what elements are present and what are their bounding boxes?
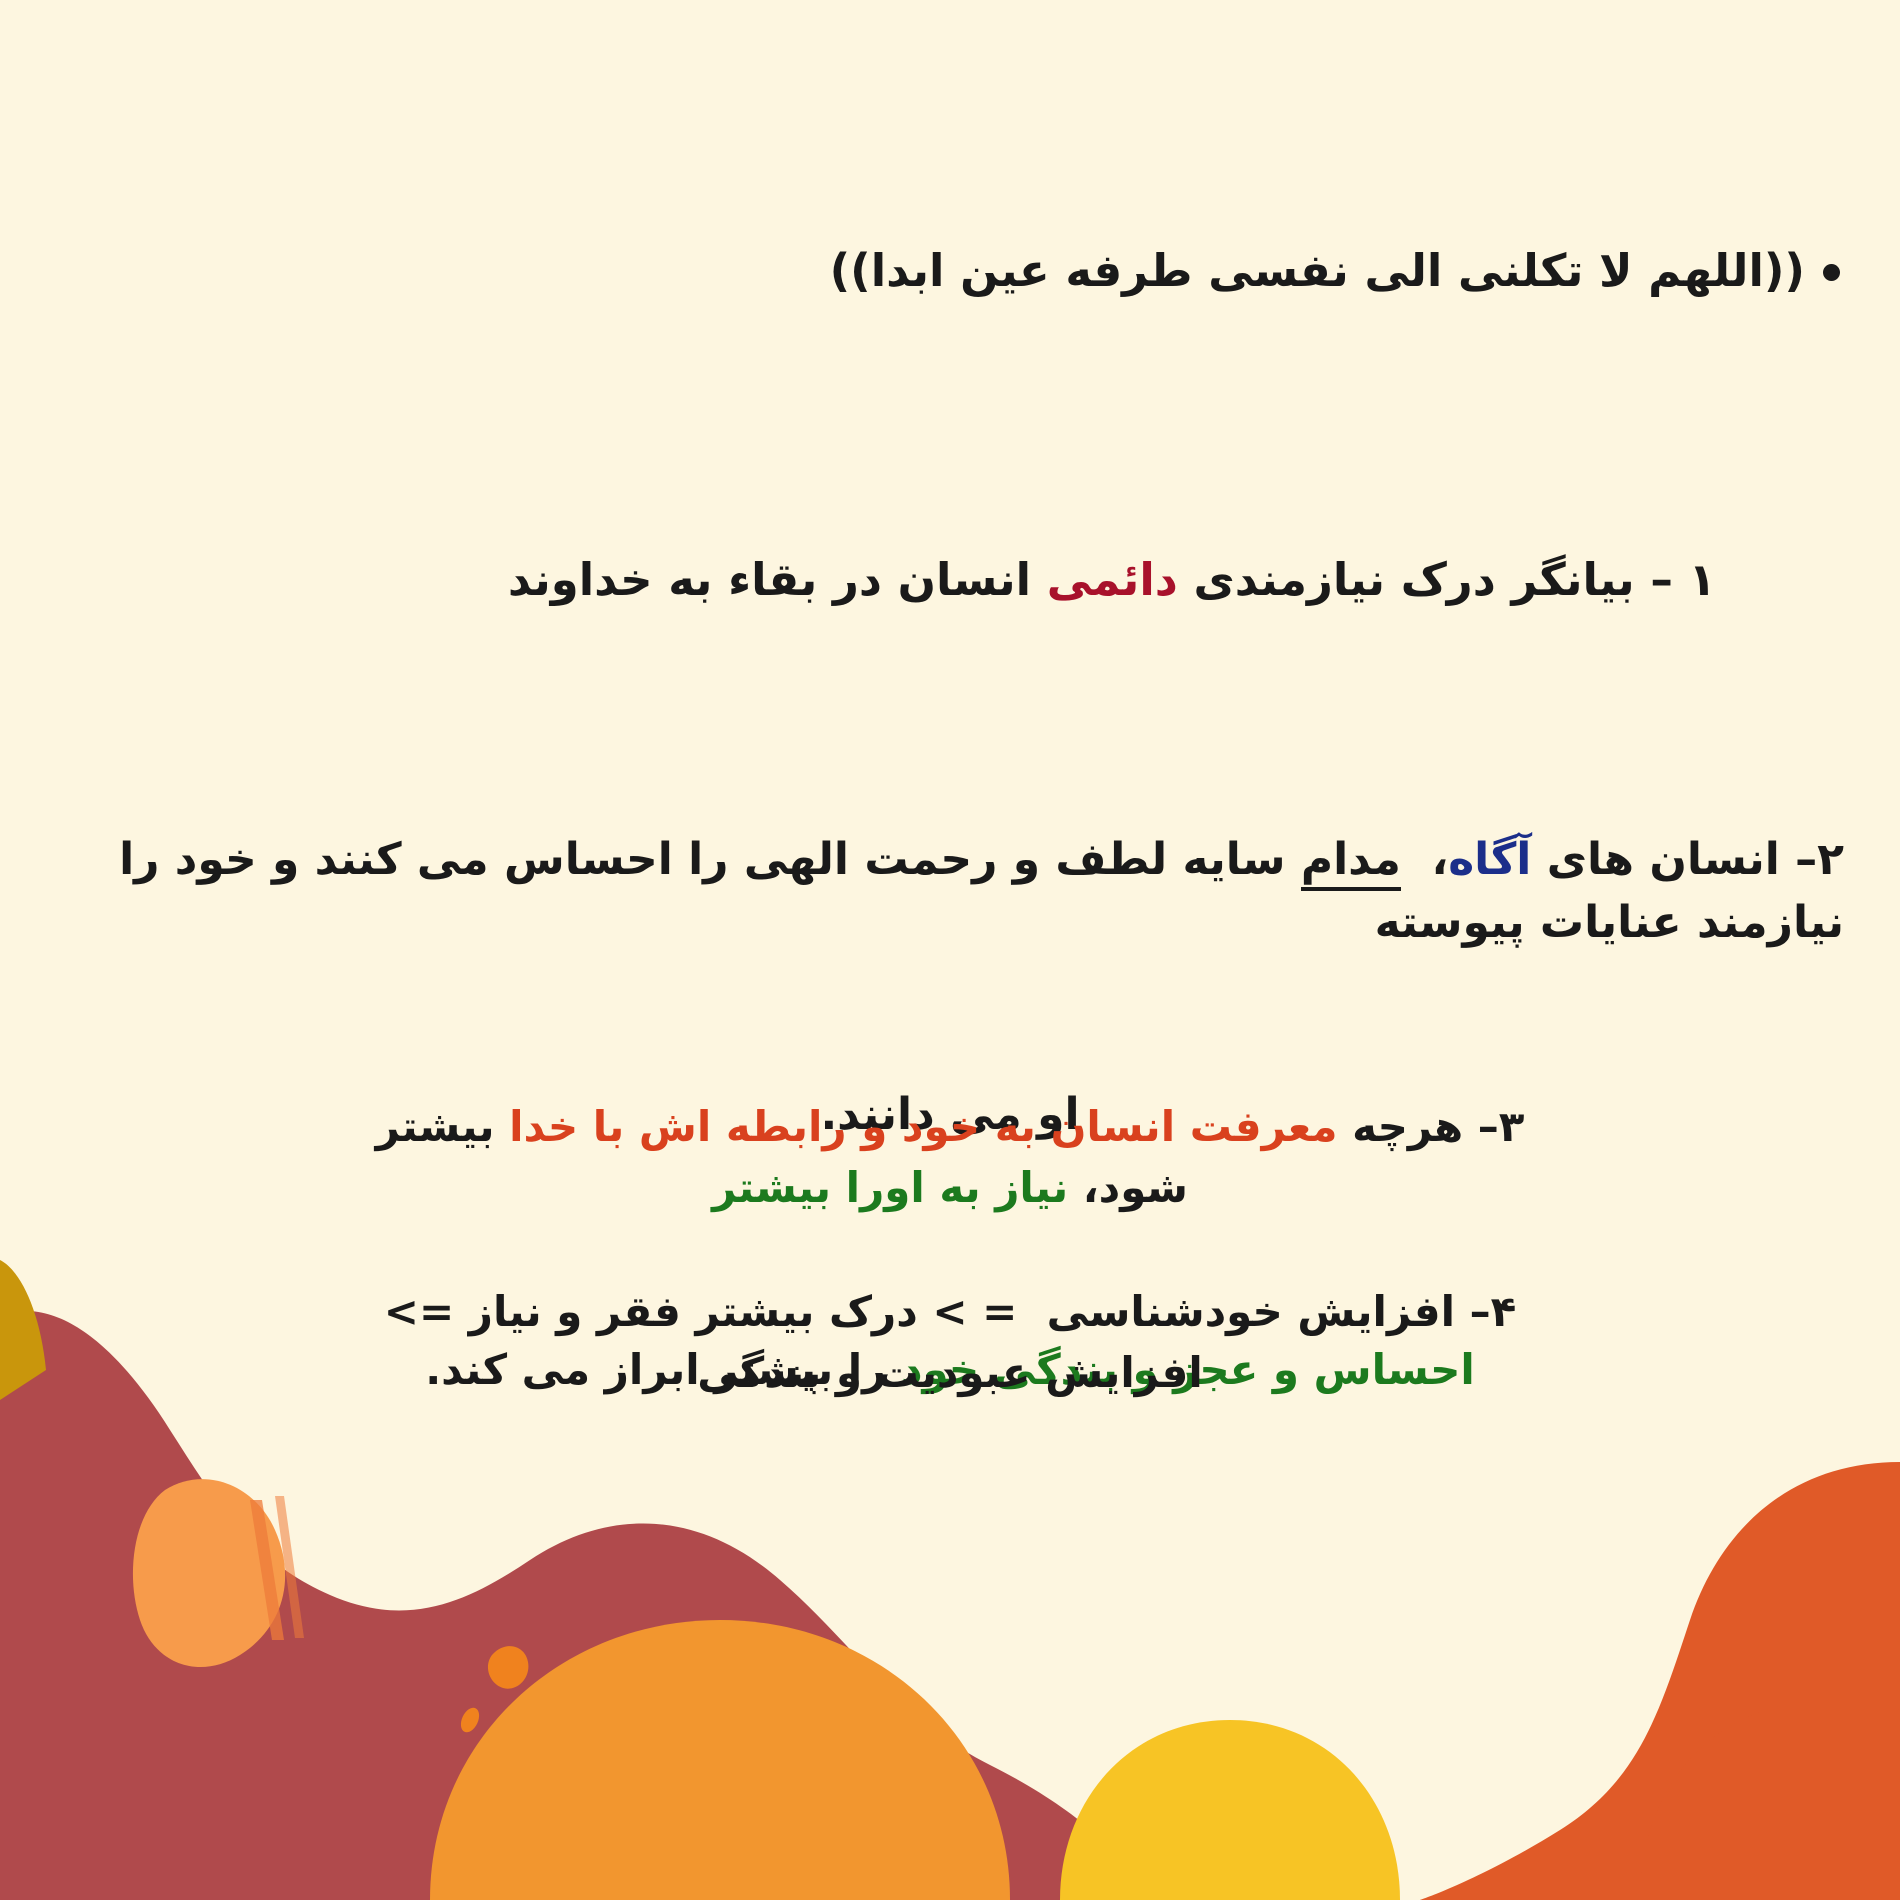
item-1-part-1: ۱ – بیانگر درک نیازمندی (1178, 553, 1716, 606)
item-2-part-1: ۲– انسان های (1531, 834, 1844, 885)
hadith-text: ((اللهم لا تكلنی الی نفسی طرفه عين ابدا)… (830, 238, 1805, 303)
slide-canvas: ((اللهم لا تكلنی الی نفسی طرفه عين ابدا)… (0, 0, 1900, 1900)
item-3: ۳– هرچه معرفت انسان به خود و رابطه اش با… (330, 975, 1570, 1523)
item-3-highlight-niaz: نیاز به اورا بیشتر (712, 1163, 1068, 1212)
item-1-part-3: انسان در بقاء به خداوند (508, 553, 1047, 606)
slide-content: ((اللهم لا تكلنی الی نفسی طرفه عين ابدا)… (0, 0, 1900, 1900)
item-2-line-1: ۲– انسان های آگاه، مدام سایه لطف و رحمت … (56, 828, 1844, 956)
item-3-line-1: ۳– هرچه معرفت انسان به خود و رابطه اش با… (330, 1097, 1570, 1219)
item-1: ۱ – بیانگر درک نیازمندی دائمی انسان در ب… (90, 482, 1810, 678)
item-3-part-1: ۳– هرچه (1338, 1102, 1525, 1151)
bullet-dot-icon (1823, 264, 1840, 281)
item-2-underline-modam: مدام (1301, 834, 1401, 891)
item-1-highlight-daemi: دائمی (1047, 553, 1178, 606)
item-3-highlight-marefat: معرفت انسان به خود و رابطه اش با خدا (509, 1102, 1337, 1151)
hadith-line: ((اللهم لا تكلنی الی نفسی طرفه عين ابدا)… (60, 238, 1840, 303)
item-4: ۴– افزایش خودشناسی = > درک بیشتر فقر و ن… (330, 1282, 1570, 1404)
item-2-highlight-agah: آگاه (1448, 834, 1531, 885)
item-2-part-3: ، (1401, 834, 1448, 885)
